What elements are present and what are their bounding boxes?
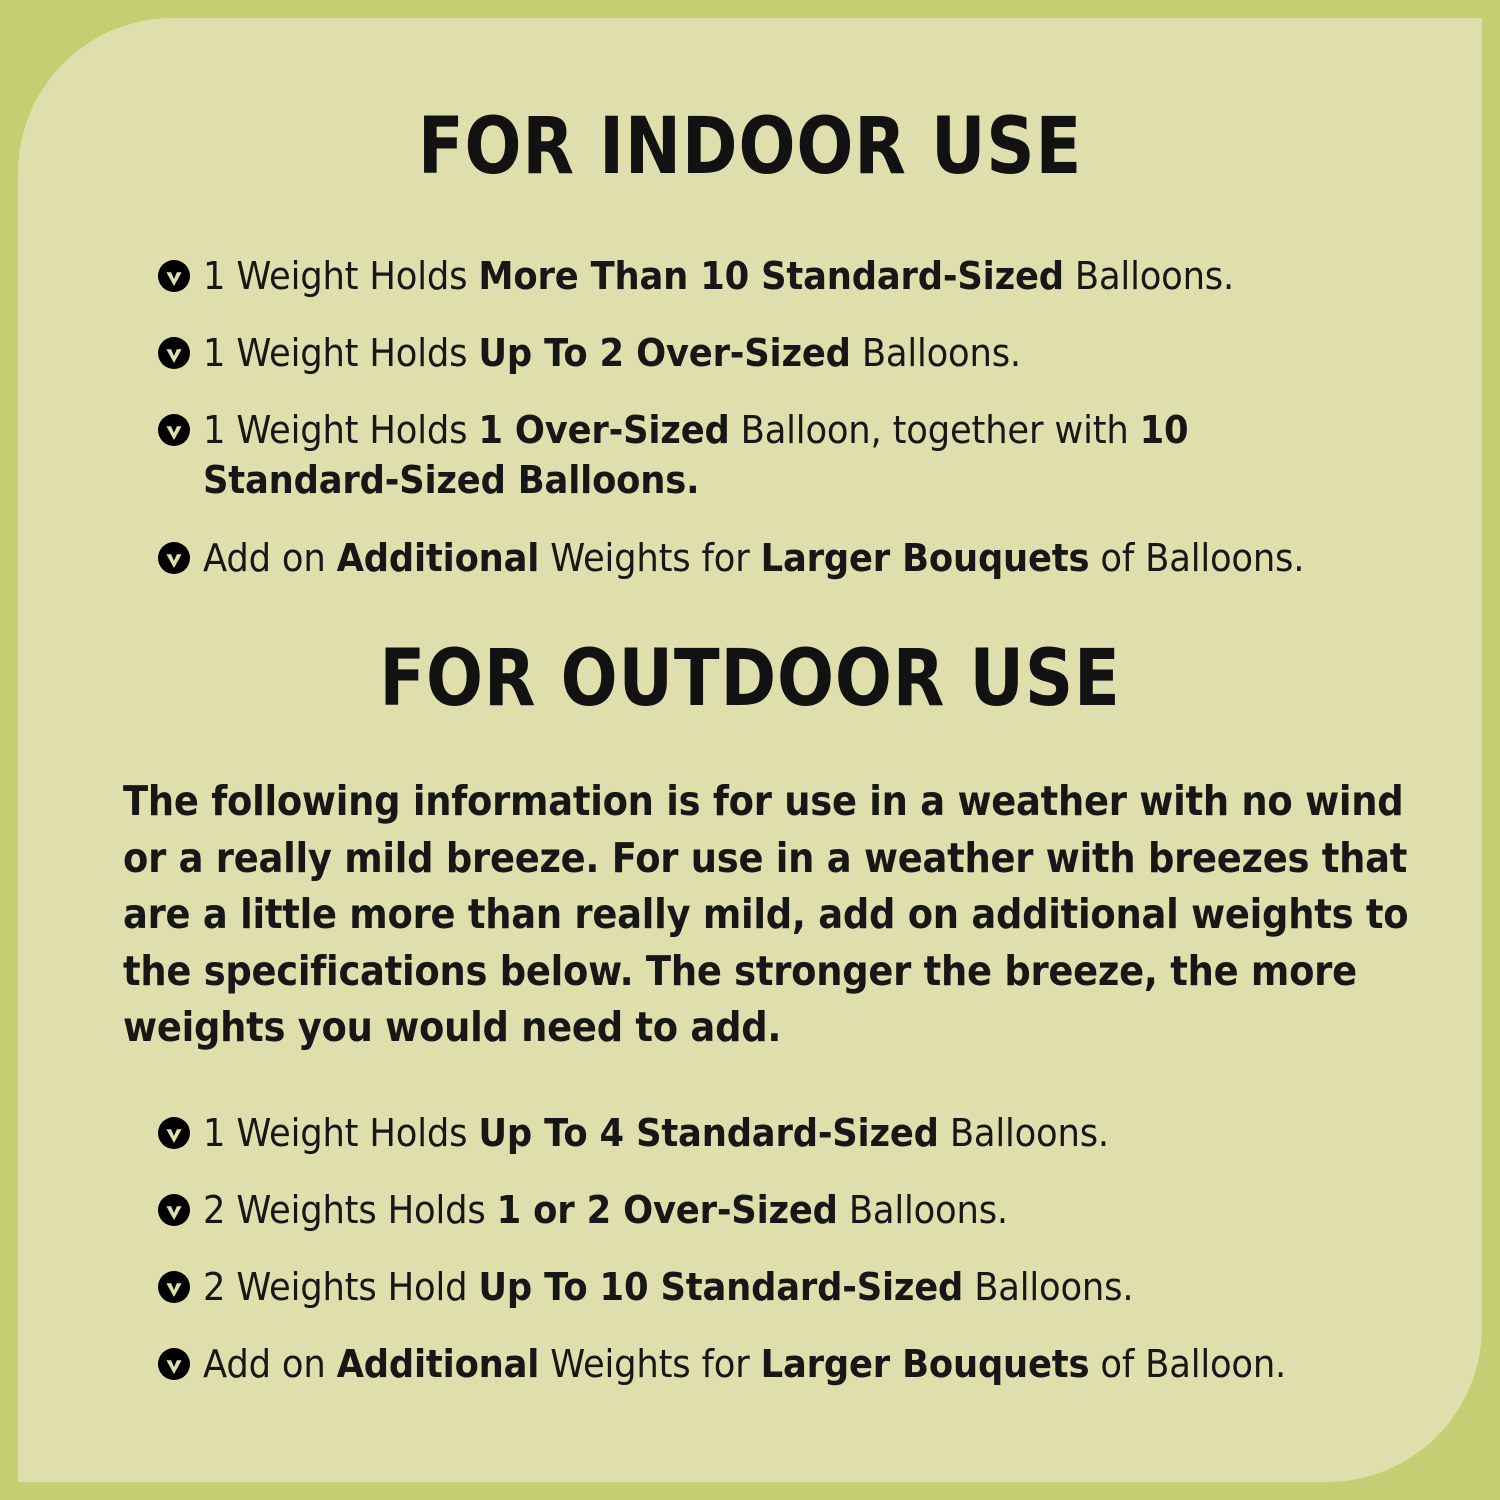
poster-root: FOR INDOOR USE 1 Weight Holds More Than … [0, 0, 1500, 1500]
list-item: 2 Weights Holds 1 or 2 Over-Sized Balloo… [158, 1185, 1448, 1235]
list-item-label: 2 Weights Holds 1 or 2 Over-Sized Balloo… [203, 1185, 1361, 1235]
info-panel: FOR INDOOR USE 1 Weight Holds More Than … [18, 18, 1482, 1482]
plain-text: Weights for [539, 536, 760, 580]
list-item: 1 Weight Holds 1 Over-Sized Balloon, tog… [158, 405, 1448, 505]
list-item: 1 Weight Holds Up To 2 Over-Sized Balloo… [158, 328, 1448, 378]
plain-text: of Balloon. [1089, 1342, 1286, 1386]
plain-text: 1 Weight Holds [203, 331, 478, 375]
emphasis-text: Up To 4 Standard-Sized [478, 1111, 938, 1155]
plain-text: 1 Weight Holds [203, 408, 478, 452]
emphasis-text: 1 or 2 Over-Sized [497, 1188, 838, 1232]
check-circle-icon [158, 542, 190, 574]
plain-text: Add on [203, 536, 337, 580]
list-item: Add on Additional Weights for Larger Bou… [158, 533, 1448, 583]
check-circle-icon [158, 1194, 190, 1226]
page-title-indoor: FOR INDOOR USE [120, 108, 1379, 186]
plain-text: 2 Weights Hold [203, 1265, 478, 1309]
list-item: 2 Weights Hold Up To 10 Standard-Sized B… [158, 1262, 1448, 1312]
check-circle-icon [158, 1348, 190, 1380]
check-circle-icon [158, 260, 190, 292]
list-item-label: 1 Weight Holds More Than 10 Standard-Siz… [203, 251, 1361, 301]
plain-text: 1 Weight Holds [203, 254, 478, 298]
indoor-bullet-list: 1 Weight Holds More Than 10 Standard-Siz… [158, 251, 1448, 583]
plain-text: Balloons. [963, 1265, 1133, 1309]
check-circle-icon [158, 414, 190, 446]
plain-text: Add on [203, 1342, 337, 1386]
plain-text: Balloon, together with [730, 408, 1140, 452]
check-circle-icon [158, 337, 190, 369]
plain-text: Balloons. [851, 331, 1021, 375]
check-circle-icon [158, 1117, 190, 1149]
plain-text: Balloons. [939, 1111, 1109, 1155]
list-item-label: 1 Weight Holds Up To 4 Standard-Sized Ba… [203, 1108, 1361, 1158]
list-item-label: 1 Weight Holds Up To 2 Over-Sized Balloo… [203, 328, 1361, 378]
outdoor-description-paragraph: The following information is for use in … [123, 773, 1442, 1056]
emphasis-text: Additional [337, 536, 540, 580]
emphasis-text: More Than 10 Standard-Sized [478, 254, 1063, 298]
list-item: Add on Additional Weights for Larger Bou… [158, 1339, 1448, 1389]
list-item-label: 2 Weights Hold Up To 10 Standard-Sized B… [203, 1262, 1361, 1312]
list-item-label: Add on Additional Weights for Larger Bou… [203, 1339, 1361, 1389]
emphasis-text: Up To 10 Standard-Sized [478, 1265, 963, 1309]
list-item-label: Add on Additional Weights for Larger Bou… [203, 533, 1361, 583]
plain-text: Balloons. [838, 1188, 1008, 1232]
plain-text: Weights for [539, 1342, 760, 1386]
page-title-outdoor: FOR OUTDOOR USE [120, 640, 1379, 718]
list-item: 1 Weight Holds More Than 10 Standard-Siz… [158, 251, 1448, 301]
emphasis-text: Larger Bouquets [761, 536, 1090, 580]
plain-text: of Balloons. [1089, 536, 1304, 580]
check-circle-icon [158, 1271, 190, 1303]
list-item-label: 1 Weight Holds 1 Over-Sized Balloon, tog… [203, 405, 1361, 505]
plain-text: 2 Weights Holds [203, 1188, 497, 1232]
emphasis-text: Up To 2 Over-Sized [478, 331, 850, 375]
plain-text: Balloons. [1064, 254, 1234, 298]
outdoor-bullet-list: 1 Weight Holds Up To 4 Standard-Sized Ba… [158, 1108, 1448, 1390]
emphasis-text: Larger Bouquets [761, 1342, 1090, 1386]
plain-text: 1 Weight Holds [203, 1111, 478, 1155]
emphasis-text: Additional [337, 1342, 540, 1386]
panel-inner: FOR INDOOR USE 1 Weight Holds More Than … [18, 18, 1482, 1482]
emphasis-text: 1 Over-Sized [478, 408, 729, 452]
list-item: 1 Weight Holds Up To 4 Standard-Sized Ba… [158, 1108, 1448, 1158]
